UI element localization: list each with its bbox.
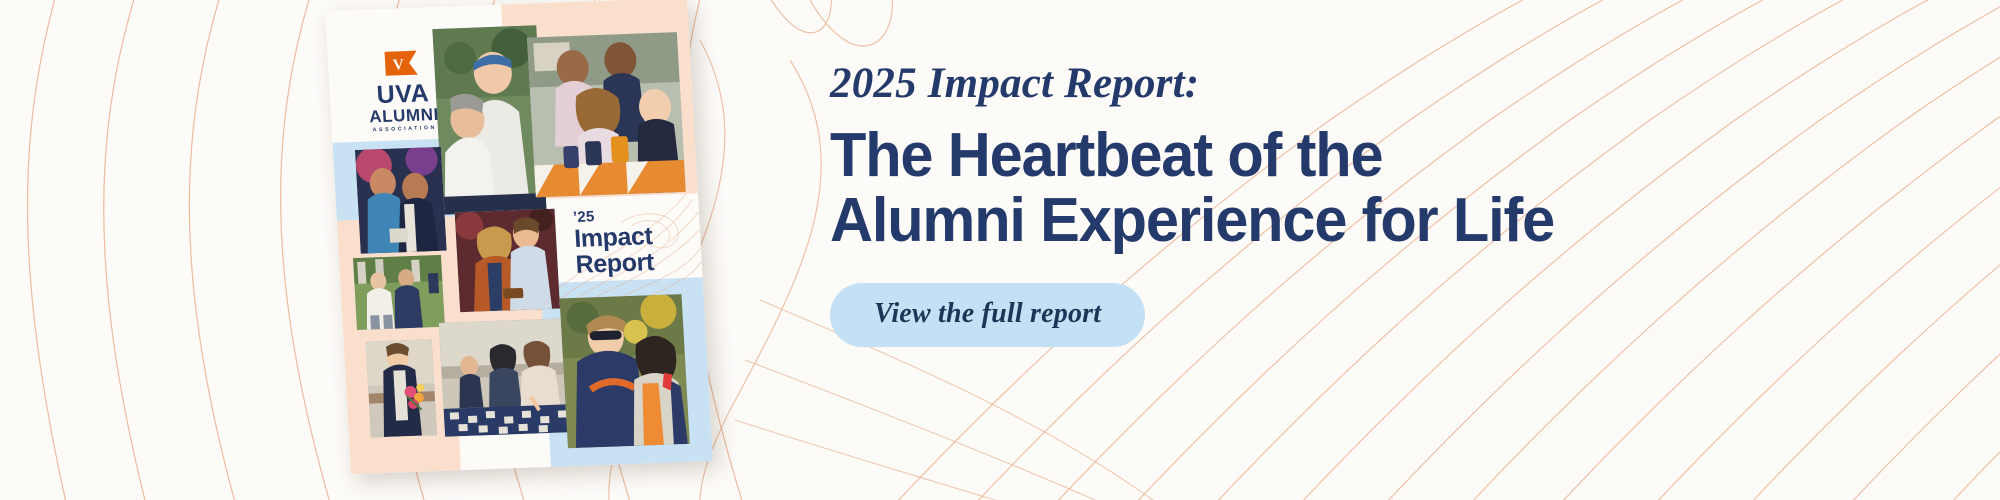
photo-flowers <box>366 339 437 437</box>
view-full-report-button[interactable]: View the full report <box>830 283 1145 347</box>
headline-line-1: The Heartbeat of the <box>830 123 1876 188</box>
photo-walking-pair <box>353 255 445 330</box>
photo-virginia-shirt <box>560 294 690 448</box>
headline-line-2: Alumni Experience for Life <box>830 188 1876 253</box>
photo-couple-event <box>455 209 561 313</box>
pennant-flag-icon: V <box>383 50 418 77</box>
logo-line-alumni: ALUMNI <box>361 105 448 126</box>
impact-report-banner: V UVA ALUMNI ASSOCIATION ’25 Impact Repo… <box>0 0 2000 500</box>
banner-copy: 2025 Impact Report: The Heartbeat of the… <box>830 62 1920 347</box>
page-title: The Heartbeat of the Alumni Experience f… <box>830 123 1876 253</box>
photo-group-of-four <box>527 32 686 197</box>
cover-caption: ’25 Impact Report <box>573 207 655 279</box>
photo-reception <box>439 318 577 437</box>
uva-alumni-logo: V UVA ALUMNI ASSOCIATION <box>357 49 448 134</box>
svg-text:V: V <box>392 57 404 73</box>
report-cover: V UVA ALUMNI ASSOCIATION ’25 Impact Repo… <box>325 0 713 474</box>
cover-caption-line2: Report <box>575 249 655 278</box>
report-cover-collage[interactable]: V UVA ALUMNI ASSOCIATION ’25 Impact Repo… <box>330 0 720 486</box>
photo-two-friends <box>355 147 447 254</box>
eyebrow-text: 2025 Impact Report: <box>830 62 1920 105</box>
